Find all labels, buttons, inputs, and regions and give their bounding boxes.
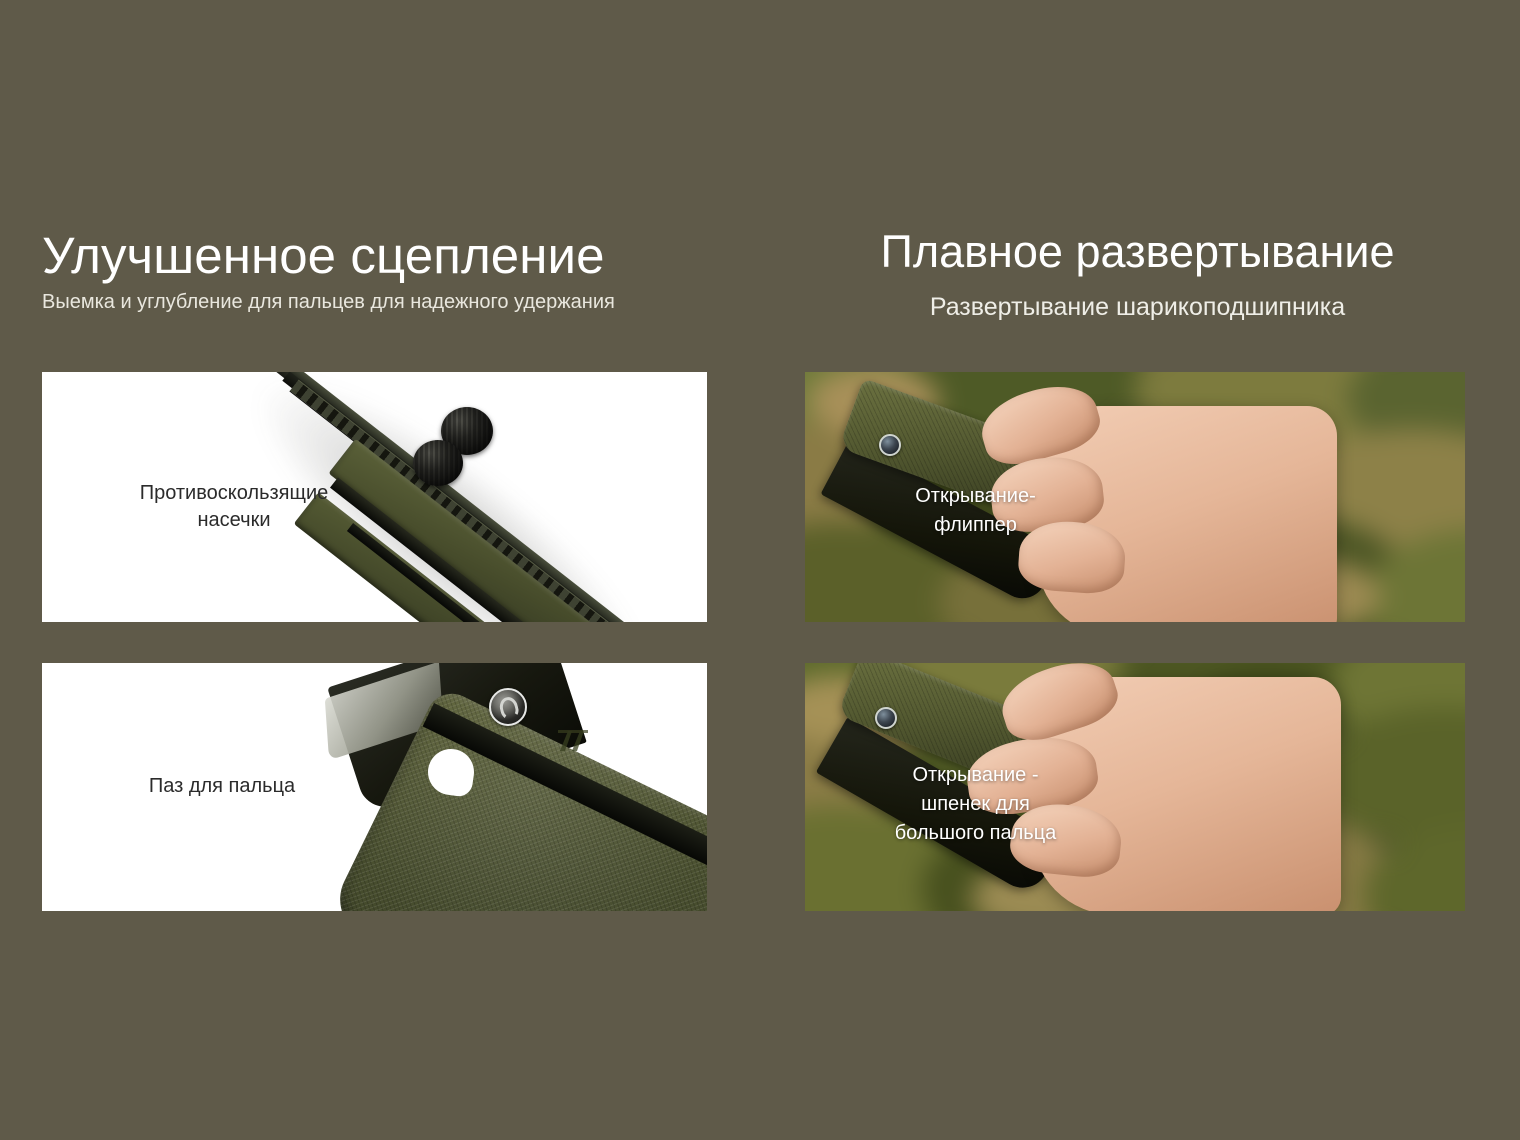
panel-jimping: Противоскользящие насечки xyxy=(42,372,707,622)
pivot-screw-logo xyxy=(489,688,527,726)
right-column-subtitle: Развертывание шарикоподшипника xyxy=(805,291,1470,324)
brand-logo-icon xyxy=(556,727,596,755)
photo-thumbstud-opening: Открывание - шпенек для большого пальца xyxy=(805,663,1465,911)
panel-label-jimping: Противоскользящие насечки xyxy=(104,480,364,534)
photo-flipper-opening: Открывание- флиппер xyxy=(805,372,1465,622)
left-column-subtitle: Выемка и углубление для пальцев для наде… xyxy=(42,289,622,315)
left-column-header: Улучшенное сцепление Выемка и углубление… xyxy=(42,228,742,315)
photo-label-thumb-stud: Открывание - шпенек для большого пальца xyxy=(843,761,1108,848)
thumb-stud-lower xyxy=(413,440,463,486)
pivot-photo-top xyxy=(879,434,901,456)
photo-label-flipper: Открывание- флиппер xyxy=(863,482,1088,540)
panel-label-finger-choil: Паз для пальца xyxy=(92,773,352,800)
right-column-header: Плавное развертывание Развертывание шари… xyxy=(805,228,1470,324)
slide-root: Улучшенное сцепление Выемка и углубление… xyxy=(0,0,1520,1140)
right-column-title: Плавное развертывание xyxy=(805,228,1470,277)
panel-finger-choil: Паз для пальца xyxy=(42,663,707,911)
pivot-photo-bottom xyxy=(875,707,897,729)
civivi-logo-mark xyxy=(498,695,521,721)
left-column-title: Улучшенное сцепление xyxy=(42,228,742,283)
